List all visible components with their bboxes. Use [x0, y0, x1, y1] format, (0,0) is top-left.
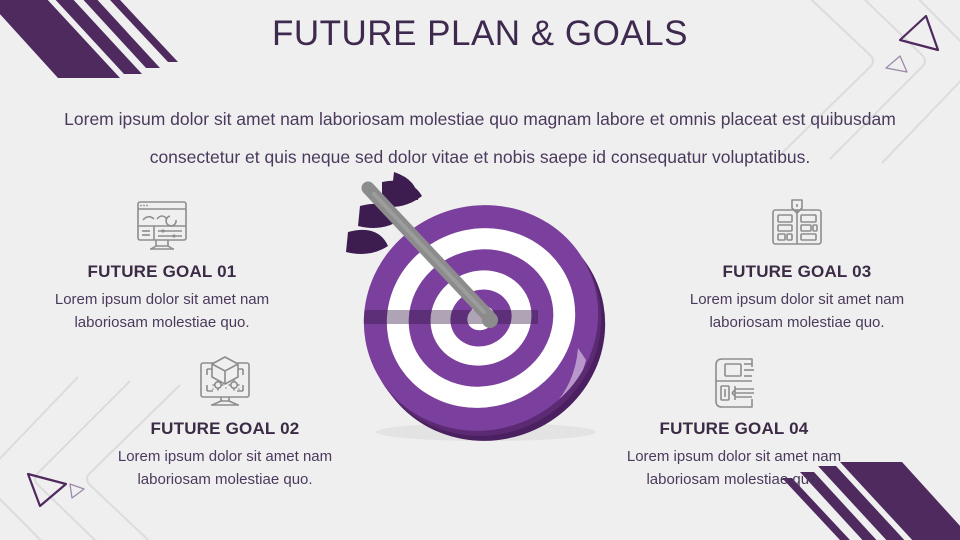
goal-title: FUTURE GOAL 04 [594, 419, 874, 439]
goal-title: FUTURE GOAL 01 [22, 262, 302, 282]
goal-description: Lorem ipsum dolor sit amet nam laboriosa… [85, 445, 365, 491]
target-with-arrow-illustration [338, 170, 628, 450]
monitor-3d-cube-icon [193, 355, 257, 411]
goal-title: FUTURE GOAL 02 [85, 419, 365, 439]
goal-description: Lorem ipsum dolor sit amet nam laboriosa… [657, 288, 937, 334]
intro-paragraph: Lorem ipsum dolor sit amet nam laboriosa… [40, 100, 920, 176]
slide-canvas: FUTURE PLAN & GOALS Lorem ipsum dolor si… [0, 0, 960, 540]
goal-item-04[interactable]: FUTURE GOAL 04 Lorem ipsum dolor sit ame… [594, 355, 874, 491]
goal-item-01[interactable]: FUTURE GOAL 01 Lorem ipsum dolor sit ame… [22, 198, 302, 334]
goal-item-02[interactable]: FUTURE GOAL 02 Lorem ipsum dolor sit ame… [85, 355, 365, 491]
bookshelf-icon [702, 355, 766, 411]
goal-description: Lorem ipsum dolor sit amet nam laboriosa… [594, 445, 874, 491]
goal-description: Lorem ipsum dolor sit amet nam laboriosa… [22, 288, 302, 334]
layout-grid-shield-icon [765, 198, 829, 254]
monitor-chart-icon [130, 198, 194, 254]
page-title: FUTURE PLAN & GOALS [0, 14, 960, 54]
goal-item-03[interactable]: FUTURE GOAL 03 Lorem ipsum dolor sit ame… [657, 198, 937, 334]
goal-title: FUTURE GOAL 03 [657, 262, 937, 282]
